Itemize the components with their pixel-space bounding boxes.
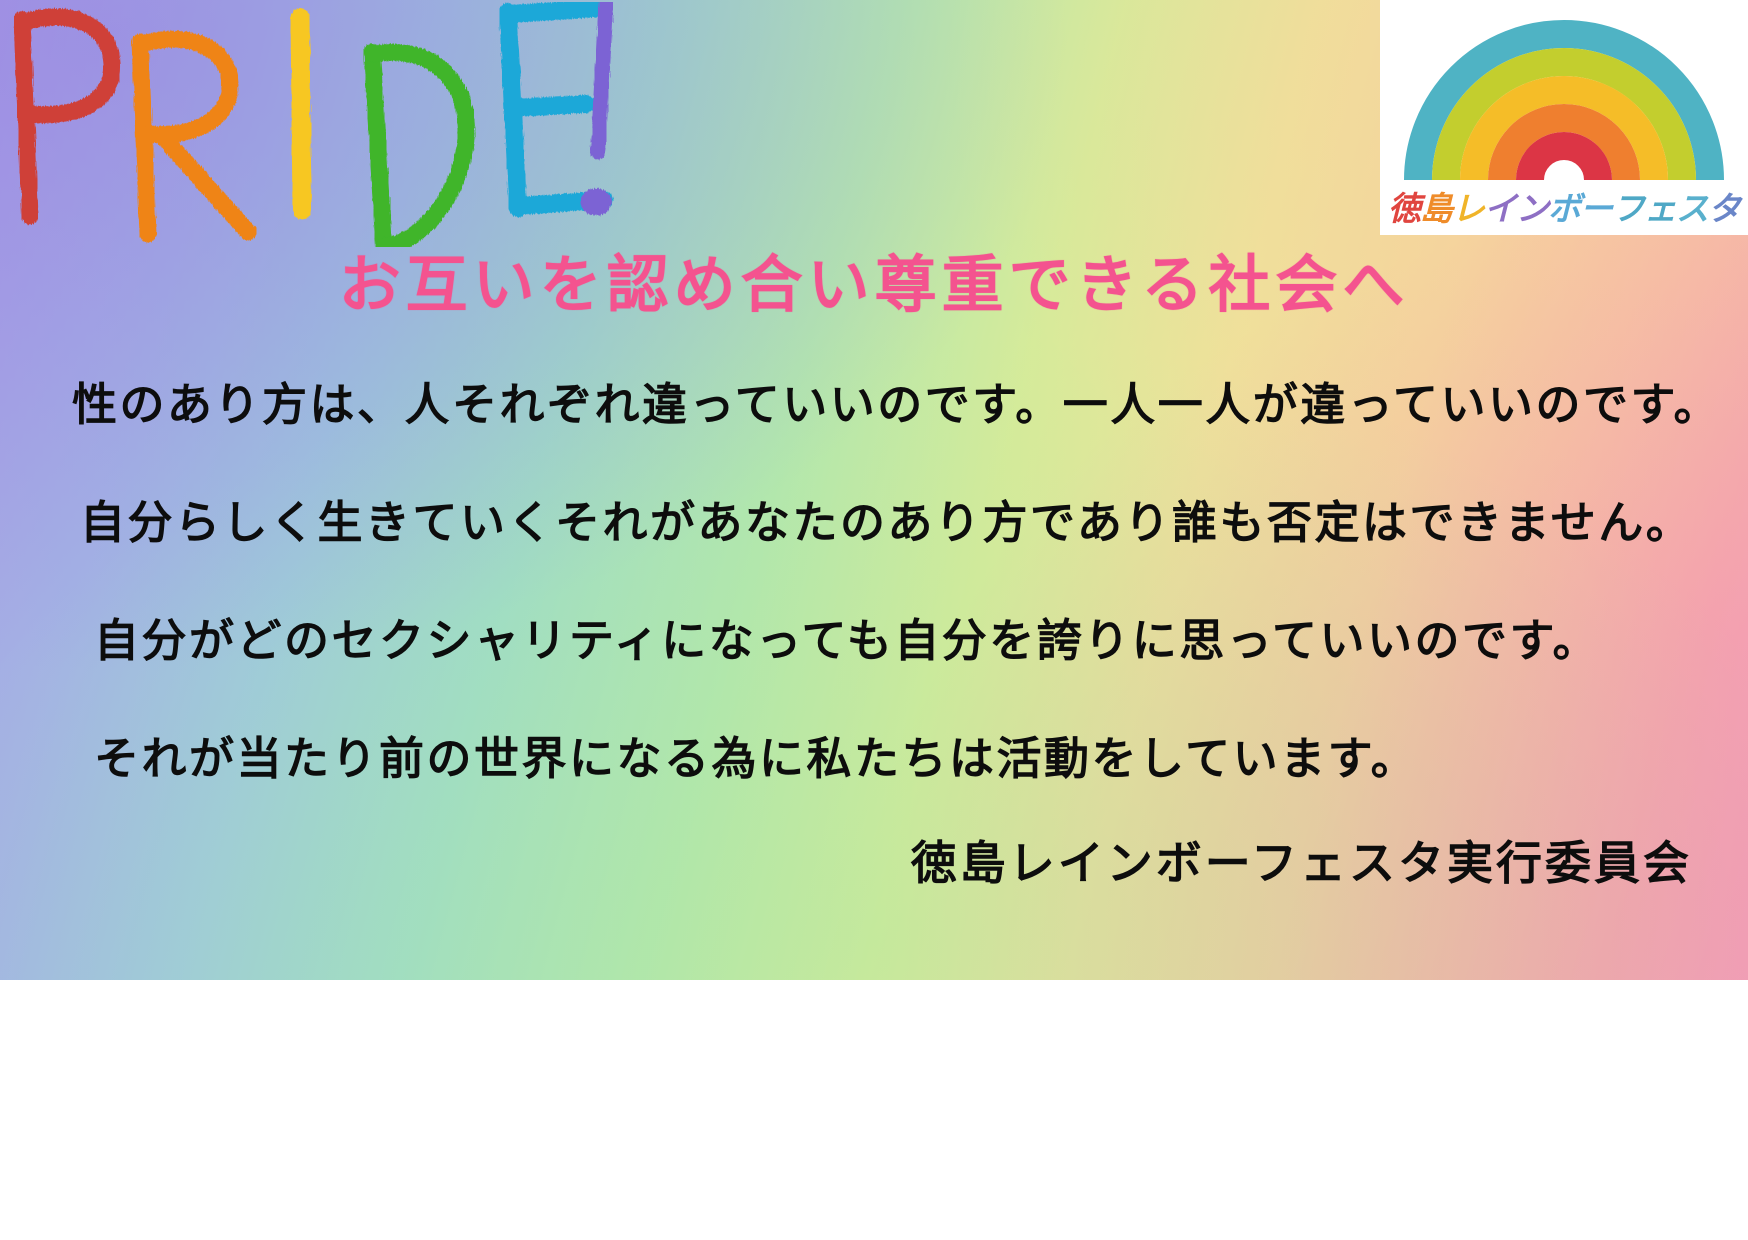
festival-logo-card: 徳島レインボーフェスタ [1380, 0, 1748, 235]
pride-poster: 徳島レインボーフェスタ お互いを認め合い尊重できる社会へ 性のあり方は、人それぞ… [0, 0, 1748, 980]
pride-letter-I [300, 18, 302, 210]
poster-headline: お互いを認め合い尊重できる社会へ [0, 252, 1748, 317]
festival-logo-wordmark: 徳島レインボーフェスタ [1388, 192, 1740, 225]
page-bottom-whitespace [0, 980, 1748, 1240]
body-line: 性のあり方は、人それぞれ違っていいのです。一人一人が違っていいのです。 [72, 382, 1682, 427]
body-line: 自分がどのセクシャリティになっても自分を誇りに思っていいのです。 [72, 618, 1682, 663]
pride-wordmark [8, 2, 628, 247]
rainbow-arc-icon [1394, 4, 1734, 182]
poster-signature: 徳島レインボーフェスタ実行委員会 [911, 840, 1692, 886]
body-line: それが当たり前の世界になる為に私たちは活動をしています。 [72, 736, 1682, 781]
pride-letter-P [22, 17, 112, 216]
body-line: 自分らしく生きていくそれがあなたのあり方であり誰も否定はできません。 [72, 500, 1682, 545]
pride-letter-R [140, 39, 248, 234]
poster-body-copy: 性のあり方は、人それぞれ違っていいのです。一人一人が違っていいのです。 自分らし… [72, 382, 1682, 854]
pride-letter-D [372, 52, 466, 247]
pride-letter-E [508, 8, 604, 208]
